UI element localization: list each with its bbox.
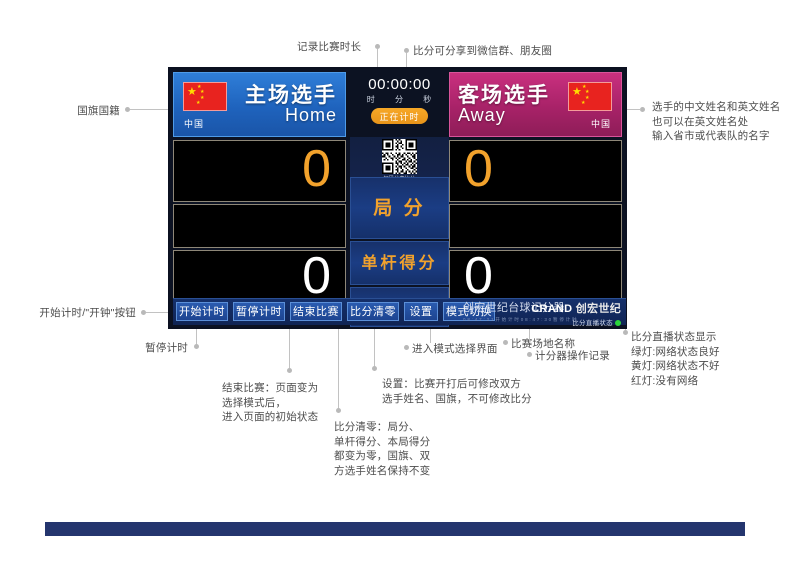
home-frame-score-value: 0 <box>302 143 331 195</box>
brand-name: CRAND 创宏世纪 <box>531 300 621 316</box>
annotation-pause-timer: 暂停计时 <box>122 341 188 356</box>
annotation-share-wechat: 比分可分享到微信群、朋友圈 <box>413 44 552 59</box>
annotation-settings: 设置：比赛开打后可修改双方 选手姓名、国旗，不可修改比分 <box>382 377 532 406</box>
page-canvas: 记录比赛时长 比分可分享到微信群、朋友圈 国旗国籍 选手的中文姓名和英文姓名 也… <box>0 0 790 571</box>
away-nation-label: 中国 <box>591 117 611 130</box>
pause-timer-button[interactable]: 暂停计时 <box>233 302 285 321</box>
home-player-name-en[interactable]: Home <box>285 105 337 126</box>
timer-panel: 00:00:00 时 分 秒 正在计时 <box>350 72 449 137</box>
home-nation-label: 中国 <box>184 117 204 130</box>
away-player-name-en[interactable]: Away <box>458 105 506 126</box>
annotation-reset-score: 比分清零：局分、 单杆得分、本局得分 都变为零，国旗、双 方选手姓名保持不变 <box>334 420 430 478</box>
center-column: 00:00:00 时 分 秒 正在计时 <box>350 69 449 327</box>
share-qr-wrapper[interactable]: 扫码分享比分 <box>382 139 417 182</box>
annotation-match-duration: 记录比赛时长 <box>297 40 361 55</box>
footer-bar <box>45 522 745 536</box>
annotation-dot <box>404 345 409 350</box>
away-current-score-value: 0 <box>464 250 493 302</box>
leader-line <box>377 49 378 67</box>
annotation-dot <box>287 368 292 373</box>
settings-button[interactable]: 设置 <box>404 302 438 321</box>
label-break-score: 单杆得分 <box>350 241 449 285</box>
brand-name-cn: 创宏世纪 <box>576 303 621 315</box>
label-frame-score: 局 分 <box>350 177 449 239</box>
annotation-end-match: 结束比赛：页面变为 选择模式后， 进入页面的初始状态 <box>222 381 318 425</box>
annotation-operation-log: 计分器操作记录 <box>535 349 610 364</box>
home-flag-china-icon[interactable]: ★★★★★ <box>183 82 227 111</box>
brand-block: CRAND 创宏世纪 比分直播状态 <box>531 300 621 327</box>
live-status-row: 比分直播状态 <box>531 317 621 327</box>
start-timer-button[interactable]: 开始计时 <box>176 302 228 321</box>
scoreboard: ★★★★★ 中国 主场选手 Home ★★★★★ 中国 客场选手 Away 00… <box>168 67 627 329</box>
annotation-dot <box>527 352 532 357</box>
annotation-player-names: 选手的中文姓名和英文姓名 也可以在英文姓名处 输入省市或代表队的名字 <box>652 100 780 144</box>
annotation-flag-nation: 国旗国籍 <box>60 104 120 119</box>
qr-code-icon[interactable] <box>382 139 417 174</box>
home-header-panel[interactable]: ★★★★★ 中国 主场选手 Home <box>173 72 346 137</box>
annotation-dot <box>372 366 377 371</box>
annotation-live-status: 比分直播状态显示 绿灯:网络状态良好 黄灯:网络状态不好 红灯:没有网络 <box>631 330 720 388</box>
annotation-dot <box>623 330 628 335</box>
match-timer: 00:00:00 <box>350 76 449 93</box>
away-break-score-cell[interactable] <box>449 204 622 248</box>
leader-line <box>338 325 339 409</box>
brand-name-en: CRAND <box>531 303 572 315</box>
live-status-label: 比分直播状态 <box>572 320 613 327</box>
leader-line <box>289 325 290 369</box>
leader-line <box>374 325 375 367</box>
end-match-button[interactable]: 结束比赛 <box>290 302 342 321</box>
live-status-led-icon <box>615 320 621 326</box>
away-header-panel[interactable]: ★★★★★ 中国 客场选手 Away <box>449 72 622 137</box>
away-frame-score-value: 0 <box>464 143 493 195</box>
annotation-start-button: 开始计时/"开钟"按钮 <box>26 306 136 321</box>
home-frame-score-cell[interactable]: 0 <box>173 140 346 202</box>
annotation-dot <box>194 344 199 349</box>
annotation-mode-switch: 进入模式选择界面 <box>412 342 498 357</box>
home-current-score-value: 0 <box>302 250 331 302</box>
away-frame-score-cell[interactable]: 0 <box>449 140 622 202</box>
reset-score-button[interactable]: 比分清零 <box>347 302 399 321</box>
timer-units-label: 时 分 秒 <box>350 94 449 105</box>
home-break-score-cell[interactable] <box>173 204 346 248</box>
annotation-dot <box>336 408 341 413</box>
bottom-toolbar: 开始计时 暂停计时 结束比赛 比分清零 设置 模式切换 创宏世纪台球记分器 0 … <box>173 298 626 325</box>
away-flag-china-icon[interactable]: ★★★★★ <box>568 82 612 111</box>
timer-status-badge: 正在计时 <box>371 108 427 124</box>
annotation-dot <box>503 340 508 345</box>
